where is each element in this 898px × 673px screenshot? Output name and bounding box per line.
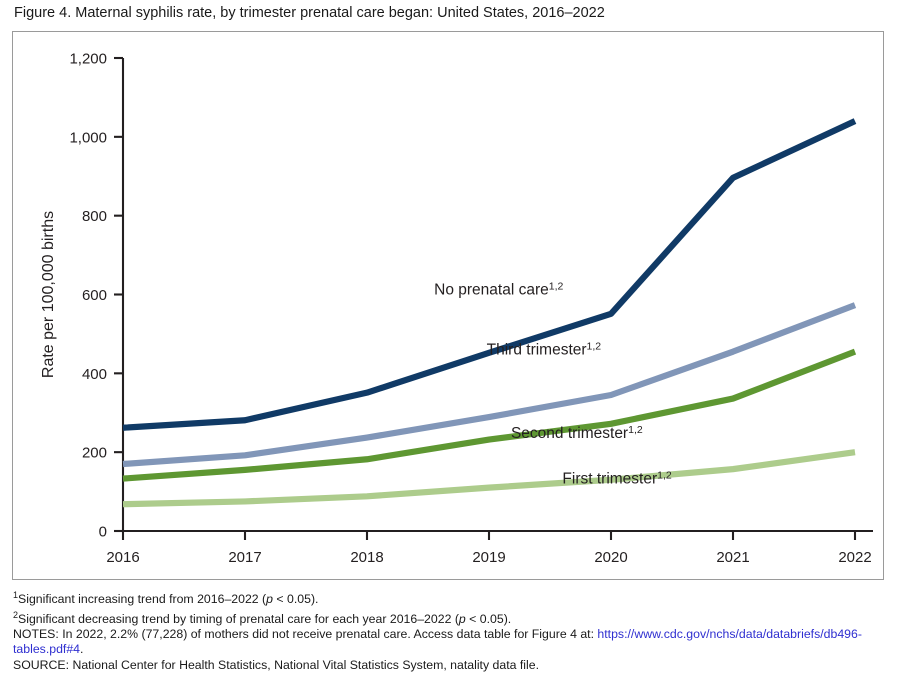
footnote-2-text: Significant decreasing trend by timing o… [18, 612, 459, 626]
footnotes-block: 1Significant increasing trend from 2016–… [13, 588, 893, 673]
x-tick-label: 2017 [228, 549, 261, 566]
y-tick-label: 0 [99, 524, 107, 541]
x-tick-label: 2016 [106, 549, 139, 566]
x-tick-label: 2021 [716, 549, 749, 566]
source-line: SOURCE: National Center for Health Stati… [13, 658, 893, 673]
footnote-2: 2Significant decreasing trend by timing … [13, 608, 893, 628]
series-label-1: No prenatal care1,2 [434, 281, 563, 299]
x-tick-label: 2018 [350, 549, 383, 566]
chart-container: 02004006008001,0001,20020162017201820192… [12, 31, 884, 580]
line-chart: 02004006008001,0001,20020162017201820192… [13, 32, 883, 579]
footnote-2-tail: < 0.05). [466, 612, 511, 626]
y-tick-label: 400 [82, 366, 107, 383]
y-tick-label: 800 [82, 208, 107, 225]
footnote-2-p: p [459, 612, 466, 626]
footnote-1: 1Significant increasing trend from 2016–… [13, 588, 893, 608]
y-tick-label: 1,000 [69, 129, 107, 146]
y-tick-label: 1,200 [69, 51, 107, 68]
y-tick-label: 600 [82, 287, 107, 304]
notes-tail: . [80, 642, 83, 656]
notes-line: NOTES: In 2022, 2.2% (77,228) of mothers… [13, 627, 893, 658]
y-tick-label: 200 [82, 445, 107, 462]
x-tick-label: 2019 [472, 549, 505, 566]
footnote-1-tail: < 0.05). [273, 592, 318, 606]
series-label-2: Third trimester1,2 [487, 340, 602, 358]
series-line-4 [123, 452, 855, 504]
x-tick-label: 2020 [594, 549, 627, 566]
x-tick-label: 2022 [838, 549, 871, 566]
notes-text: NOTES: In 2022, 2.2% (77,228) of mothers… [13, 627, 597, 641]
y-axis-title: Rate per 100,000 births [40, 211, 57, 378]
series-label-4: First trimester1,2 [562, 470, 671, 488]
series-label-3: Second trimester1,2 [511, 424, 643, 442]
series-line-1 [123, 121, 855, 428]
footnote-1-p: p [266, 592, 273, 606]
footnote-1-text: Significant increasing trend from 2016–2… [18, 592, 266, 606]
page-title: Figure 4. Maternal syphilis rate, by tri… [14, 4, 884, 22]
